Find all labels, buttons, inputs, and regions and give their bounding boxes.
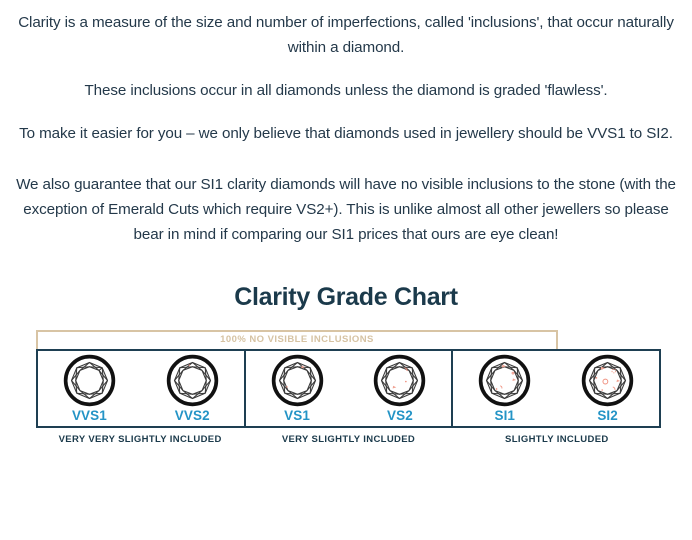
inclusion-mark <box>617 379 621 382</box>
inclusion-mark <box>613 387 615 390</box>
inclusion-mark <box>596 377 598 379</box>
grade-group-vvs: VVS1 <box>38 351 244 426</box>
no-visible-inclusions-label: 100% NO VISIBLE INCLUSIONS <box>36 334 558 345</box>
inclusion-mark <box>496 388 498 390</box>
inclusion-mark <box>405 381 407 383</box>
grade-label-vvs2: VVS2 <box>175 408 210 423</box>
inclusion-mark <box>603 379 608 384</box>
round-brilliant-diamond-icon <box>63 354 116 407</box>
grade-cell-vvs1[interactable]: VVS1 <box>38 351 141 426</box>
inclusion-mark <box>501 386 503 389</box>
grade-label-vs2: VS2 <box>387 408 413 423</box>
grade-description-row: VERY VERY SLIGHTLY INCLUDED VERY SLIGHTL… <box>36 434 661 445</box>
grade-label-si1: SI1 <box>494 408 515 423</box>
intro-paragraph-1: Clarity is a measure of the size and num… <box>14 0 678 60</box>
chart-title: Clarity Grade Chart <box>0 247 692 312</box>
grade-description-vs: VERY SLIGHTLY INCLUDED <box>244 434 452 445</box>
grade-group-si: SI1 <box>451 351 659 426</box>
round-brilliant-diamond-icon <box>478 354 531 407</box>
grade-box: VVS1 <box>36 349 661 428</box>
grade-cell-si1[interactable]: SI1 <box>453 351 556 426</box>
intro-paragraph-3: To make it easier for you – we only beli… <box>14 103 678 146</box>
grade-cell-si2[interactable]: SI2 <box>556 351 659 426</box>
grade-description-si: SLIGHTLY INCLUDED <box>453 434 661 445</box>
grade-group-vs: VS1 <box>244 351 452 426</box>
round-brilliant-diamond-icon <box>373 354 426 407</box>
inclusion-mark <box>188 364 189 365</box>
intro-paragraph-4: We also guarantee that our SI1 clarity d… <box>14 146 678 247</box>
intro-copy: Clarity is a measure of the size and num… <box>0 0 692 247</box>
round-brilliant-diamond-icon <box>581 354 634 407</box>
clarity-grade-chart: 100% NO VISIBLE INCLUSIONS <box>0 330 692 490</box>
grade-label-si2: SI2 <box>597 408 618 423</box>
round-brilliant-diamond-icon <box>271 354 324 407</box>
clarity-grade-page: Clarity is a measure of the size and num… <box>0 0 692 540</box>
intro-paragraph-2: These inclusions occur in all diamonds u… <box>14 60 678 103</box>
grade-label-vvs1: VVS1 <box>72 408 107 423</box>
inclusion-mark <box>513 378 517 381</box>
round-brilliant-diamond-icon <box>166 354 219 407</box>
grade-cell-vvs2[interactable]: VVS2 <box>141 351 244 426</box>
grade-label-vs1: VS1 <box>284 408 310 423</box>
grade-cell-vs2[interactable]: VS2 <box>349 351 452 426</box>
grade-cell-vs1[interactable]: VS1 <box>246 351 349 426</box>
grade-description-vvs: VERY VERY SLIGHTLY INCLUDED <box>36 434 244 445</box>
inclusion-mark <box>286 386 287 387</box>
inclusion-mark <box>393 386 397 389</box>
inclusion-mark <box>512 372 514 374</box>
inclusion-mark <box>602 389 603 390</box>
